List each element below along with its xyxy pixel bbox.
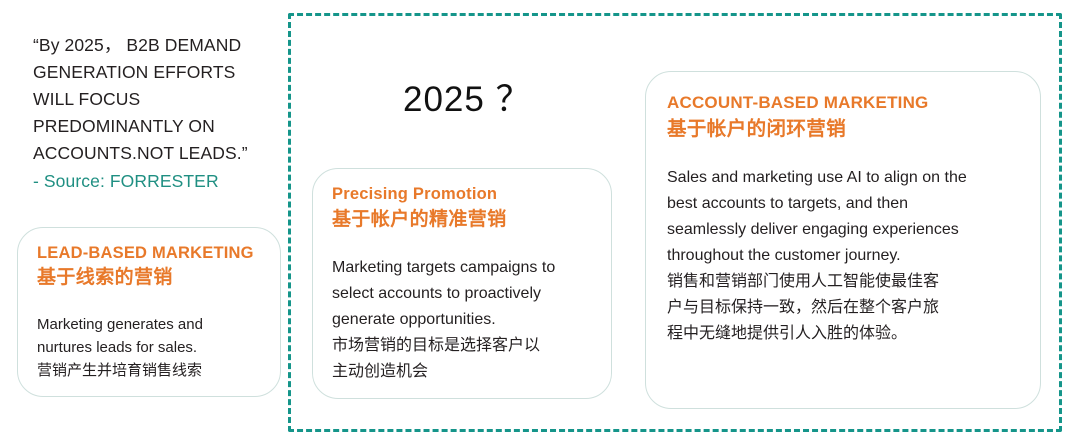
- card-lead-content: LEAD-BASED MARKETING 基于线索的营销 Marketing g…: [37, 242, 269, 382]
- card-abm-content: ACCOUNT-BASED MARKETING 基于帐户的闭环营销 Sales …: [667, 91, 1035, 347]
- card-lead-title-cn: 基于线索的营销: [37, 265, 269, 291]
- forrester-quote-block: “By 2025， B2B DEMAND GENERATION EFFORTS …: [33, 32, 283, 194]
- card-account-based-marketing: ACCOUNT-BASED MARKETING 基于帐户的闭环营销 Sales …: [645, 71, 1041, 409]
- quote-source: - Source: FORRESTER: [33, 168, 283, 194]
- card-precising-content: Precising Promotion 基于帐户的精准营销 Marketing …: [332, 183, 600, 385]
- card-abm-title-cn: 基于帐户的闭环营销: [667, 115, 1035, 143]
- year-heading: 2025 ？: [403, 78, 532, 122]
- card-precising-title-en: Precising Promotion: [332, 183, 600, 205]
- card-abm-title-en: ACCOUNT-BASED MARKETING: [667, 91, 1035, 114]
- card-lead-based-marketing: LEAD-BASED MARKETING 基于线索的营销 Marketing g…: [17, 227, 281, 397]
- card-precising-body: Marketing targets campaigns to select ac…: [332, 255, 600, 385]
- card-lead-title-en: LEAD-BASED MARKETING: [37, 242, 269, 264]
- card-lead-body: Marketing generates and nurtures leads f…: [37, 313, 269, 382]
- quote-text: “By 2025， B2B DEMAND GENERATION EFFORTS …: [33, 32, 283, 167]
- card-abm-body: Sales and marketing use AI to align on t…: [667, 165, 1035, 347]
- card-precising-promotion: Precising Promotion 基于帐户的精准营销 Marketing …: [312, 168, 612, 399]
- card-precising-title-cn: 基于帐户的精准营销: [332, 206, 600, 233]
